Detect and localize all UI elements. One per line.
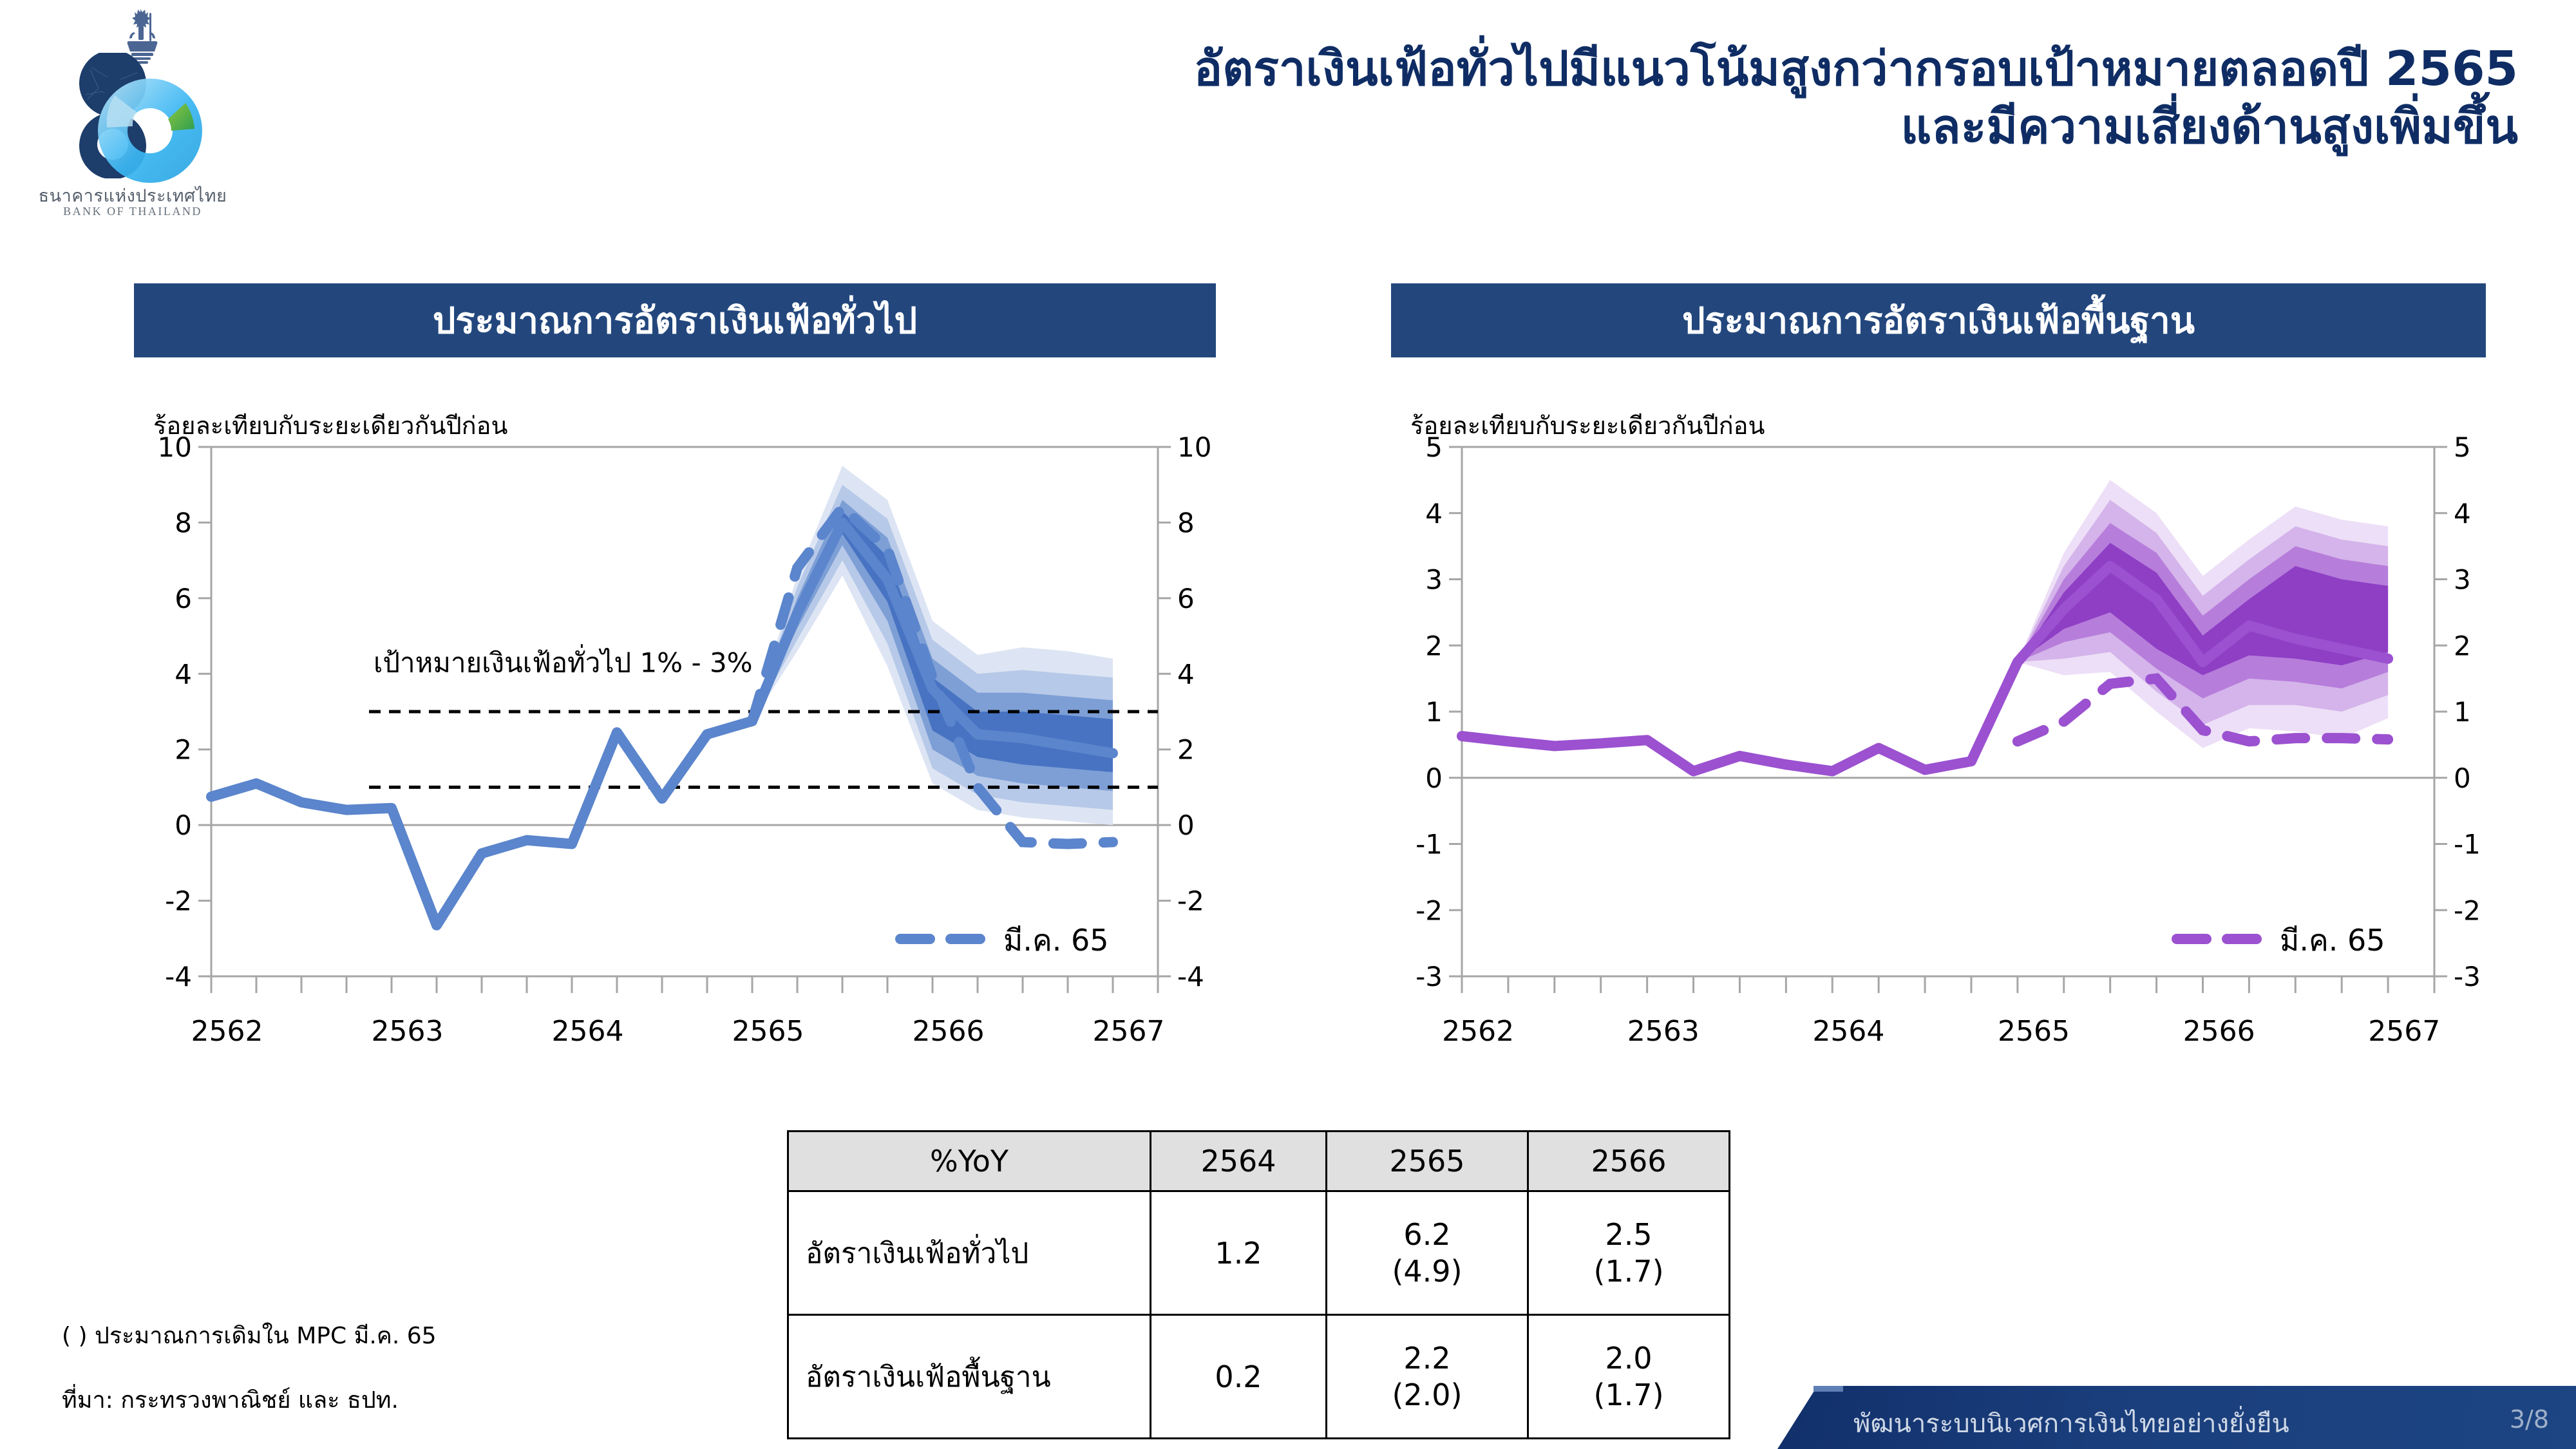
svg-text:-2: -2 — [2454, 895, 2481, 926]
svg-text:-2: -2 — [165, 885, 192, 917]
svg-text:มี.ค. 65: มี.ค. 65 — [1003, 923, 1109, 958]
svg-text:-2: -2 — [1416, 895, 1443, 926]
table-row: อัตราเงินเฟ้อพื้นฐาน 0.2 2.2 (2.0) 2.0 (… — [788, 1315, 1730, 1439]
svg-text:6: 6 — [1177, 583, 1195, 614]
svg-text:2567: 2567 — [2368, 1015, 2440, 1048]
forecast-table-wrapper: %YoY 2564 2565 2566 อัตราเงินเฟ้อทั่วไป … — [787, 1130, 1730, 1439]
value-current: 6.2 — [1334, 1217, 1520, 1253]
forecast-table: %YoY 2564 2565 2566 อัตราเงินเฟ้อทั่วไป … — [787, 1130, 1730, 1439]
svg-text:0: 0 — [1425, 762, 1443, 794]
value-previous: (2.0) — [1334, 1377, 1520, 1413]
svg-text:2567: 2567 — [1093, 1015, 1165, 1048]
chart-core-inflation: ร้อยละเทียบกับระยะเดียวกันปีก่อน 5544332… — [1391, 406, 2512, 1063]
footer-page-number: 3/8 — [2510, 1405, 2549, 1434]
footer-text: พัฒนาระบบนิเวศการเงินไทยอย่างยั่งยืน — [1853, 1403, 2289, 1444]
footer-tick-mark — [1814, 1386, 1843, 1392]
svg-text:0: 0 — [175, 810, 192, 841]
page-title-line2: และมีความเสี่ยงด้านสูงเพิ่มขึ้น — [650, 98, 2518, 156]
svg-text:2566: 2566 — [2183, 1015, 2255, 1048]
svg-text:1: 1 — [2454, 696, 2471, 728]
svg-text:10: 10 — [158, 435, 192, 463]
value-current: 2.2 — [1334, 1340, 1520, 1376]
svg-text:4: 4 — [2454, 498, 2471, 529]
svg-text:4: 4 — [1425, 498, 1443, 529]
svg-text:มี.ค. 65: มี.ค. 65 — [2280, 923, 2385, 958]
svg-text:2565: 2565 — [732, 1015, 804, 1048]
svg-text:8: 8 — [175, 507, 192, 538]
footer-bar: พัฒนาระบบนิเวศการเงินไทยอย่างยั่งยืน 3/8 — [1777, 1386, 2576, 1449]
svg-text:2565: 2565 — [1998, 1015, 2070, 1048]
table-row: อัตราเงินเฟ้อทั่วไป 1.2 6.2 (4.9) 2.5 (1… — [788, 1191, 1730, 1315]
svg-text:2564: 2564 — [552, 1015, 624, 1048]
value-current: 2.0 — [1535, 1340, 1722, 1376]
table-cell-core-2566: 2.0 (1.7) — [1528, 1315, 1730, 1439]
svg-text:8: 8 — [1177, 507, 1195, 538]
svg-text:2563: 2563 — [1627, 1015, 1700, 1048]
svg-text:-2: -2 — [1177, 885, 1204, 917]
panel-header-headline-inflation: ประมาณการอัตราเงินเฟ้อทั่วไป — [134, 283, 1216, 357]
table-cell-label-headline: อัตราเงินเฟ้อทั่วไป — [788, 1191, 1151, 1315]
table-cell-headline-2566: 2.5 (1.7) — [1528, 1191, 1730, 1315]
table-header-row: %YoY 2564 2565 2566 — [788, 1132, 1730, 1191]
table-cell-headline-2564: 1.2 — [1151, 1191, 1327, 1315]
note-previous-forecast: ( ) ประมาณการเดิมใน MPC มี.ค. 65 — [62, 1317, 437, 1354]
chart-svg-core: 554433221100-1-1-2-2-3-32562256325642565… — [1391, 435, 2512, 1060]
svg-text:เป้าหมายเงินเฟ้อทั่วไป 1% - 3%: เป้าหมายเงินเฟ้อทั่วไป 1% - 3% — [374, 644, 753, 678]
table-cell-core-2565: 2.2 (2.0) — [1327, 1315, 1528, 1439]
svg-text:-4: -4 — [1177, 961, 1204, 992]
table-cell-core-2564: 0.2 — [1151, 1315, 1327, 1439]
value-previous: (4.9) — [1334, 1253, 1520, 1289]
svg-text:2566: 2566 — [913, 1015, 985, 1048]
svg-text:-1: -1 — [1416, 829, 1443, 860]
svg-text:0: 0 — [1177, 810, 1195, 841]
note-source: ที่มา: กระทรวงพาณิชย์ และ ธปท. — [62, 1381, 399, 1418]
value-current: 2.5 — [1535, 1217, 1722, 1253]
svg-text:2563: 2563 — [372, 1015, 444, 1048]
svg-text:-1: -1 — [2454, 829, 2481, 860]
table-cell-headline-2565: 6.2 (4.9) — [1327, 1191, 1528, 1315]
svg-text:-3: -3 — [1416, 961, 1443, 992]
svg-text:10: 10 — [1177, 435, 1211, 463]
table-header-2565: 2565 — [1327, 1132, 1528, 1191]
page-title-line1: อัตราเงินเฟ้อทั่วไปมีแนวโน้มสูงกว่ากรอบเ… — [650, 40, 2518, 98]
chart-svg-headline: 10108866442200-2-2-4-4256225632564256525… — [134, 435, 1229, 1060]
svg-text:2: 2 — [1177, 734, 1195, 766]
svg-text:3: 3 — [1425, 564, 1443, 596]
bot-logo: ธนาคารแห่งประเทศไทย BANK OF THAILAND — [23, 6, 242, 219]
svg-text:2562: 2562 — [1442, 1015, 1514, 1048]
svg-text:2: 2 — [1425, 630, 1443, 661]
svg-text:5: 5 — [2454, 435, 2471, 463]
svg-text:2564: 2564 — [1812, 1015, 1884, 1048]
table-header-metric: %YoY — [788, 1132, 1151, 1191]
svg-text:-3: -3 — [2454, 961, 2481, 992]
table-header-2564: 2564 — [1151, 1132, 1327, 1191]
panel-header-core-inflation: ประมาณการอัตราเงินเฟ้อพื้นฐาน — [1391, 283, 2486, 357]
svg-text:4: 4 — [1177, 658, 1195, 690]
table-header-2566: 2566 — [1528, 1132, 1730, 1191]
bot-ecosystem-ring-icon — [95, 76, 205, 185]
svg-text:2: 2 — [175, 734, 192, 766]
svg-text:5: 5 — [1425, 435, 1443, 463]
value-previous: (1.7) — [1535, 1377, 1722, 1413]
svg-text:6: 6 — [175, 583, 192, 614]
svg-text:4: 4 — [175, 658, 192, 690]
svg-text:2: 2 — [2454, 630, 2471, 661]
table-cell-label-core: อัตราเงินเฟ้อพื้นฐาน — [788, 1315, 1151, 1439]
value-previous: (1.7) — [1535, 1253, 1722, 1289]
logo-english-name: BANK OF THAILAND — [23, 205, 242, 218]
svg-text:0: 0 — [2454, 762, 2471, 794]
page-title: อัตราเงินเฟ้อทั่วไปมีแนวโน้มสูงกว่ากรอบเ… — [650, 40, 2518, 156]
chart-headline-inflation: ร้อยละเทียบกับระยะเดียวกันปีก่อน 1010886… — [134, 406, 1229, 1063]
svg-text:3: 3 — [2454, 564, 2471, 596]
svg-text:-4: -4 — [165, 961, 192, 992]
svg-text:2562: 2562 — [191, 1015, 263, 1048]
svg-text:1: 1 — [1425, 696, 1443, 728]
